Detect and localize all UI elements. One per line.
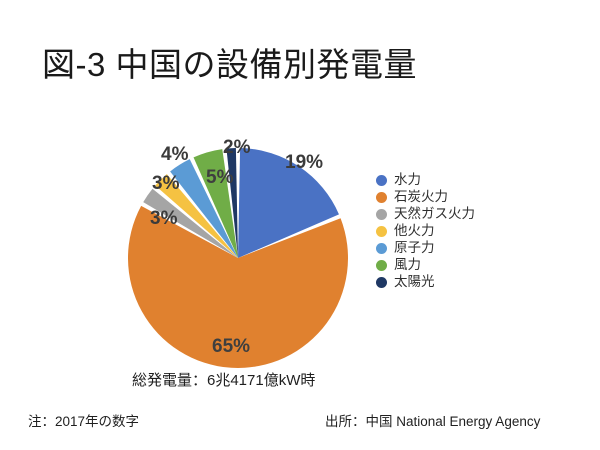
legend-item-label: 石炭火力: [394, 190, 448, 204]
slice-label-gas: 3%: [150, 208, 177, 230]
legend-item[interactable]: 水力: [376, 172, 475, 188]
legend-item-label: 太陽光: [394, 275, 435, 289]
legend-item[interactable]: 原子力: [376, 240, 475, 256]
legend-swatch-icon: [376, 192, 387, 203]
slice-label-nuclear: 4%: [161, 144, 188, 166]
legend: 水力石炭火力天然ガス火力他火力原子力風力太陽光: [376, 172, 475, 290]
legend-item[interactable]: 石炭火力: [376, 189, 475, 205]
legend-item-label: 水力: [394, 173, 421, 187]
legend-swatch-icon: [376, 277, 387, 288]
slice-label-other-thermal: 3%: [152, 173, 179, 195]
legend-swatch-icon: [376, 226, 387, 237]
legend-swatch-icon: [376, 175, 387, 186]
legend-item-label: 風力: [394, 258, 421, 272]
legend-item[interactable]: 他火力: [376, 223, 475, 239]
total-generation-label: 総発電量：6兆4171億kW時: [132, 369, 315, 390]
slice-label-wind: 5%: [206, 167, 233, 189]
legend-item[interactable]: 太陽光: [376, 274, 475, 290]
slice-label-solar: 2%: [223, 137, 250, 159]
legend-item-label: 原子力: [394, 241, 435, 255]
legend-swatch-icon: [376, 209, 387, 220]
legend-item[interactable]: 天然ガス火力: [376, 206, 475, 222]
legend-swatch-icon: [376, 243, 387, 254]
legend-item-label: 他火力: [394, 224, 435, 238]
legend-item[interactable]: 風力: [376, 257, 475, 273]
legend-item-label: 天然ガス火力: [394, 207, 475, 221]
slice-label-coal: 65%: [212, 336, 250, 358]
legend-swatch-icon: [376, 260, 387, 271]
slice-label-hydro: 19%: [285, 152, 323, 174]
source-text: 出所：中国 National Energy Agency: [325, 410, 540, 430]
note-text: 注：2017年の数字: [28, 410, 139, 430]
